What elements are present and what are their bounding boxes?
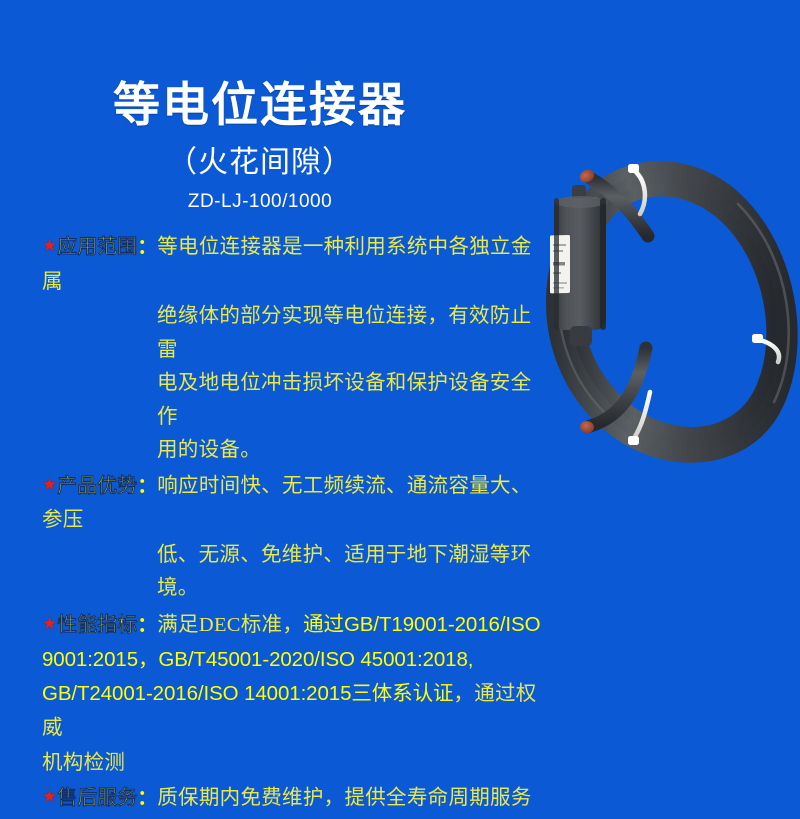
product-slide: 等电位连接器 （火花间隙） ZD-LJ-100/1000 ★应用范围：等电位连接… (0, 0, 800, 600)
star-bullet-icon: ★ (42, 614, 57, 633)
page-title: 等电位连接器 (0, 82, 520, 131)
cylindrical-housing (550, 185, 606, 346)
section-label: 性能指标 (57, 614, 137, 636)
product-photo (528, 86, 800, 478)
section-label: 产品优势 (57, 475, 137, 497)
model-number: ZD-LJ-100/1000 (0, 191, 520, 213)
section-colon: ： (137, 236, 157, 258)
section-colon: ： (137, 787, 157, 809)
certification-text: 通过GB/T19001-2016/ISO (303, 613, 540, 636)
section-label: 售后服务 (57, 787, 137, 809)
star-bullet-icon: ★ (42, 236, 57, 255)
standard-compliance-text: 满足DEC标准， (157, 614, 303, 636)
section-application-scope: ★应用范围：等电位连接器是一种利用系统中各独立金属 绝缘体的部分实现等电位连接，… (42, 231, 542, 468)
certification-text: 9001:2015，GB/T45001-2020/ISO 45001:2018, (42, 643, 542, 677)
certification-text: GB/T24001-2016/ISO 14001:2015三体系认证 (42, 682, 453, 705)
section-product-advantages: ★产品优势：响应时间快、无工频续流、通流容量大、参压 低、无源、免维护、适用于地… (42, 470, 542, 606)
star-bullet-icon: ★ (42, 475, 57, 494)
section-line: 电及地电位冲击损坏设备和保护设备安全作 (42, 367, 542, 434)
certification-suffix-text: 机构检测 (42, 747, 542, 781)
section-after-sales-service: ★售后服务：质保期内免费维护，提供全寿命周期服务 (42, 782, 542, 817)
section-line: 质保期内免费维护，提供全寿命周期服务 (157, 787, 531, 809)
section-line: 低、无源、免维护、适用于地下潮湿等环境。 (42, 539, 542, 606)
specs-list: ★应用范围：等电位连接器是一种利用系统中各独立金属 绝缘体的部分实现等电位连接，… (42, 231, 542, 819)
page-subtitle: （火花间隙） (0, 137, 520, 181)
section-line: 用的设备。 (42, 434, 542, 468)
star-bullet-icon: ★ (42, 787, 57, 806)
section-colon: ： (137, 475, 157, 497)
section-colon: ： (137, 614, 157, 636)
title-block: 等电位连接器 （火花间隙） ZD-LJ-100/1000 (0, 82, 520, 213)
section-line: 绝缘体的部分实现等电位连接，有效防止雷 (42, 300, 542, 367)
section-label: 应用范围 (57, 236, 137, 258)
section-performance-indicators: ★性能指标：满足DEC标准，通过GB/T19001-2016/ISO 9001:… (42, 608, 542, 781)
